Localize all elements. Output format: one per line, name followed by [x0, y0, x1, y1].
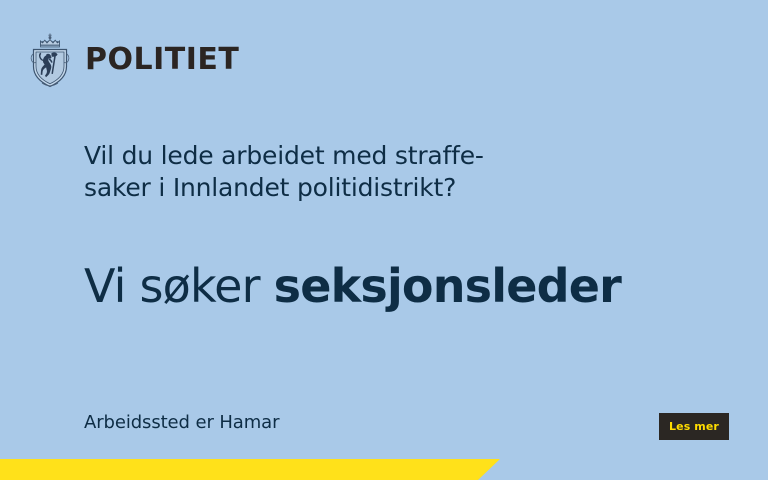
read-more-button[interactable]: Les mer: [659, 413, 729, 440]
politiet-logo[interactable]: POLITIET: [26, 32, 239, 88]
norwegian-coat-of-arms-icon: [26, 32, 74, 88]
headline-bold-text: seksjonsleder: [274, 259, 621, 313]
headline-light-text: Vi søker: [84, 259, 274, 313]
subheading: Vil du lede arbeidet med straffe- saker …: [84, 140, 484, 204]
subheading-line-1: Vil du lede arbeidet med straffe-: [84, 140, 484, 172]
read-more-button-label: Les mer: [669, 421, 719, 432]
subheading-line-2: saker i Innlandet politidistrikt?: [84, 172, 484, 204]
work-location-text: Arbeidssted er Hamar: [84, 412, 279, 433]
recruitment-banner: POLITIET Vil du lede arbeidet med straff…: [0, 0, 768, 480]
yellow-accent-band: [0, 459, 500, 480]
politiet-wordmark: POLITIET: [85, 45, 239, 75]
page-title: Vi søker seksjonsleder: [84, 262, 621, 310]
